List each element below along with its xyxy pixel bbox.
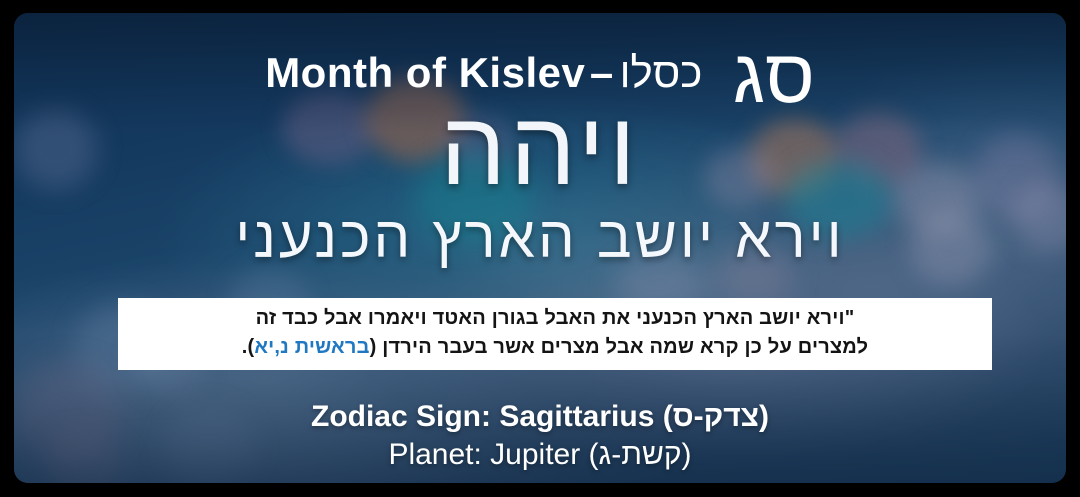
slide-frame: Month of Kislev – כסלו סג ויהה וירא יושב… <box>0 0 1080 497</box>
quote-line-1: "וירא יושב הארץ הכנעני את האבל בגורן האט… <box>132 304 978 333</box>
quote-citation: בראשית נ,יא <box>254 336 369 358</box>
title-separator: – <box>590 49 613 96</box>
headline-big-word: ויהה <box>14 97 1066 201</box>
quote-line-2-text: למצרים על כן קרא שמה אבל מצרים אשר בעבר … <box>370 336 869 358</box>
slide-content: Month of Kislev – כסלו סג ויהה וירא יושב… <box>14 13 1066 483</box>
zodiac-sign-line: Zodiac Sign: Sagittarius (צדק-ס) <box>14 400 1066 434</box>
title-hebrew-month: כסלו <box>620 49 703 96</box>
quote-line-2-tail: ). <box>242 336 255 358</box>
quote-box: "וירא יושב הארץ הכנעני את האבל בגורן האט… <box>118 298 992 370</box>
quote-line-2: למצרים על כן קרא שמה אבל מצרים אשר בעבר … <box>132 333 978 362</box>
title-english: Month of Kislev <box>265 49 585 96</box>
planet-line: Planet: Jupiter (קשת-ג) <box>14 438 1066 472</box>
headline-phrase: וירא יושב הארץ הכנעני <box>14 209 1066 267</box>
slide-canvas: Month of Kislev – כסלו סג ויהה וירא יושב… <box>14 13 1066 483</box>
